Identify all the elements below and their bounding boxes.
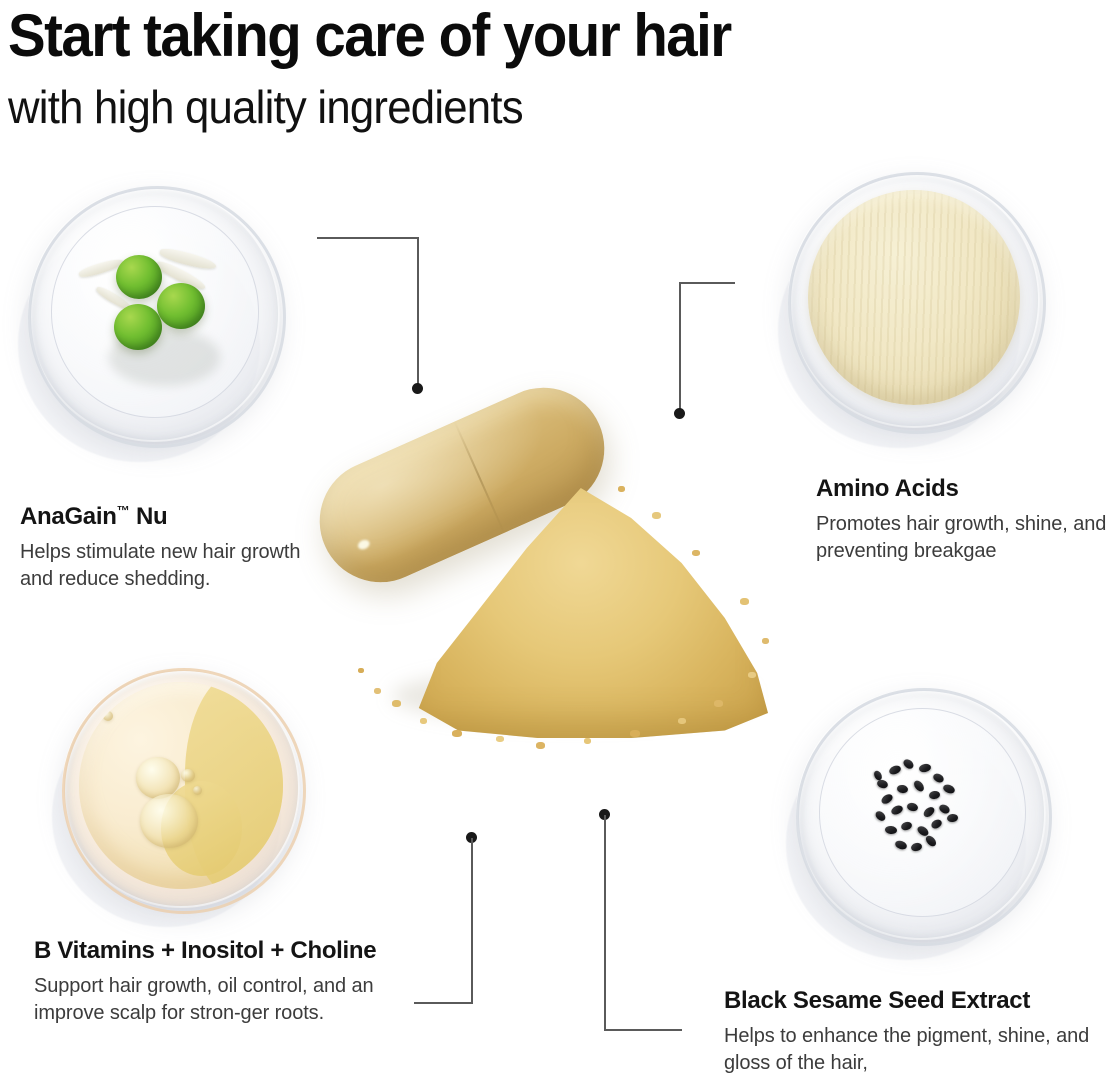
callout-title-sesame: Black Sesame Seed Extract — [724, 986, 1108, 1015]
powder-grain — [496, 736, 504, 742]
powder-grain — [762, 638, 769, 644]
powder-grain — [714, 700, 723, 707]
green-pea — [114, 304, 162, 350]
powder-grain — [740, 598, 749, 605]
powder-grain — [452, 730, 462, 737]
powder-grain — [692, 550, 700, 556]
connector-line-amino-horizontal — [679, 282, 735, 284]
callout-title-amino: Amino Acids — [816, 474, 1108, 503]
connector-line-sesame-horizontal — [604, 1029, 682, 1031]
sprouted-pea-petri-dish — [28, 186, 280, 442]
connector-line-amino-vertical — [679, 282, 681, 414]
connector-line-bvitamins-horizontal — [414, 1002, 473, 1004]
dish-rim — [788, 172, 1046, 434]
powder-grain — [748, 672, 756, 678]
callout-body-bvitamins: Support hair growth, oil control, and an… — [34, 973, 384, 1027]
amino-acid-powder-petri-dish — [788, 172, 1040, 428]
powder-grain — [630, 730, 640, 737]
capsule-highlight — [356, 538, 371, 551]
connector-line-sesame-vertical — [604, 815, 606, 1031]
callout-title-main: AnaGain — [20, 503, 117, 530]
connector-line-anagain-vertical — [417, 237, 419, 389]
green-pea — [157, 283, 205, 329]
connector-line-bvitamins-vertical — [471, 838, 473, 1004]
callout-sesame: Black Sesame Seed Extract Helps to enhan… — [724, 986, 1108, 1077]
powder-grain — [374, 688, 381, 694]
page-title: Start taking care of your hair with high… — [8, 2, 1098, 134]
headline-line-2: with high quality ingredients — [8, 80, 1044, 134]
dish-rim — [62, 668, 306, 914]
callout-title-anagain: AnaGain™ Nu — [20, 496, 320, 531]
headline-line-1: Start taking care of your hair — [8, 2, 1033, 70]
callout-amino: Amino Acids Promotes hair growth, shine,… — [816, 474, 1108, 565]
powder-grain — [618, 486, 625, 492]
callout-title-bvitamins: B Vitamins + Inositol + Choline — [34, 936, 384, 965]
callout-title-tail: Nu — [130, 503, 168, 530]
callout-body-amino: Promotes hair growth, shine, and prevent… — [816, 511, 1108, 565]
callout-body-anagain: Helps stimulate new hair growth and redu… — [20, 539, 320, 593]
powder-grain — [420, 718, 427, 724]
connector-dot-anagain — [412, 383, 423, 394]
connector-dot-amino — [674, 408, 685, 419]
golden-oil-petri-dish — [62, 668, 300, 908]
powder-grain — [678, 718, 686, 724]
infographic-canvas: Start taking care of your hair with high… — [0, 0, 1108, 1085]
powder-grain — [358, 668, 364, 673]
powder-grain — [392, 700, 401, 707]
trademark-symbol: ™ — [117, 503, 130, 518]
connector-line-anagain-horizontal — [317, 237, 419, 239]
callout-body-sesame: Helps to enhance the pigment, shine, and… — [724, 1023, 1108, 1077]
callout-bvitamins: B Vitamins + Inositol + Choline Support … — [34, 936, 384, 1027]
green-pea — [116, 255, 162, 299]
supplement-capsule-and-powder — [300, 400, 840, 800]
powder-grain — [652, 512, 661, 519]
powder-grain — [536, 742, 545, 749]
powder-grain — [584, 738, 591, 744]
callout-anagain: AnaGain™ Nu Helps stimulate new hair gro… — [20, 496, 320, 593]
